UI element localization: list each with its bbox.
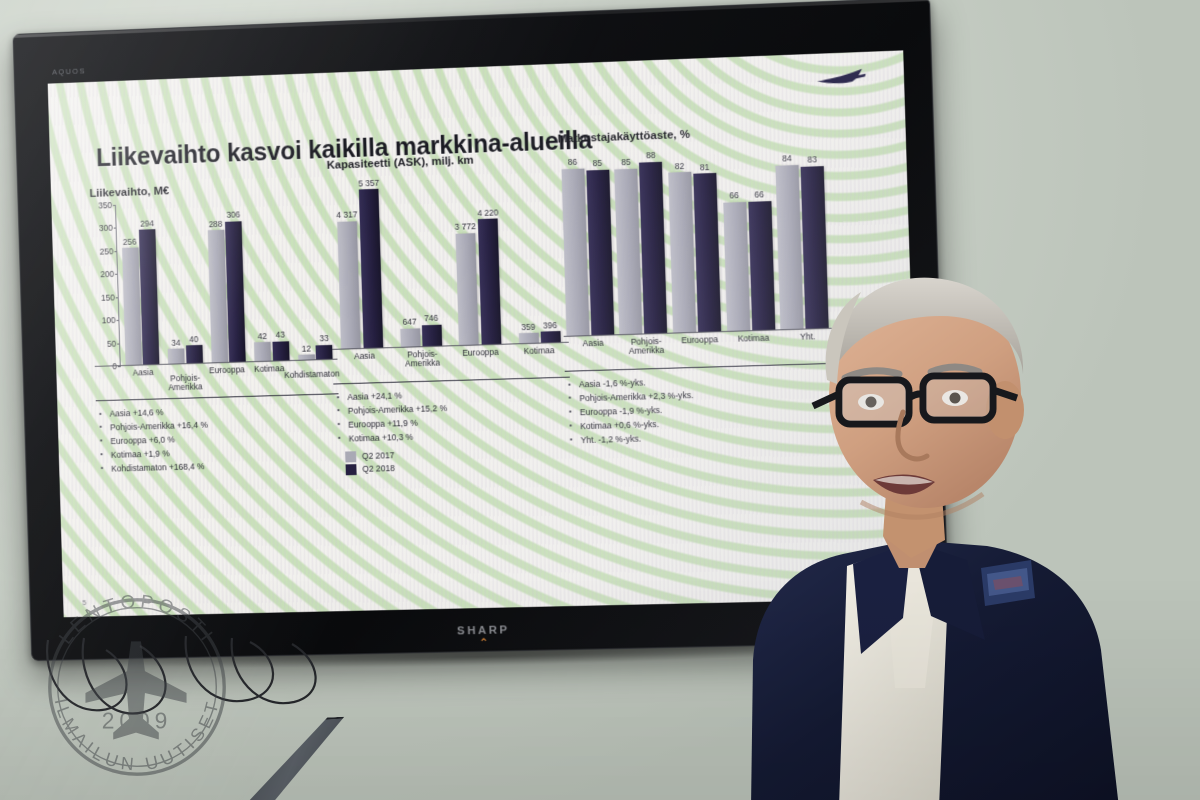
power-led-icon: ⌃ xyxy=(479,637,489,649)
bar-chart-liikevaihto: 050100150200250300350 256294344028830642… xyxy=(90,197,338,392)
bar-value-label: 647 xyxy=(402,317,416,327)
bar-value-label: 85 xyxy=(593,158,603,168)
bar xyxy=(561,168,589,337)
bar-group: 1233 xyxy=(293,198,333,361)
bar-value-label: 86 xyxy=(568,157,578,167)
x-axis-label: Kotimaa xyxy=(254,364,285,374)
aquos-brand-label: AQUOS xyxy=(52,66,86,76)
bar-column: 306 xyxy=(225,201,246,363)
bar-group: 288306 xyxy=(207,201,246,364)
bar-column: 82 xyxy=(667,147,696,334)
x-axis-label: Eurooppa xyxy=(462,348,499,358)
x-axis-label: Aasia xyxy=(354,352,375,361)
panel-kapasiteetti: Kapasiteetti (ASK), milj. km 4 3175 3576… xyxy=(327,151,573,477)
bar-column: 4 220 xyxy=(476,172,502,346)
bar-value-label: 66 xyxy=(754,190,764,200)
bar-column: 85 xyxy=(586,150,615,336)
bar xyxy=(254,342,271,362)
x-axis-label: Kotimaa xyxy=(524,346,555,356)
x-axis-label: Aasia xyxy=(133,368,154,377)
y-tick-label: 100 xyxy=(102,315,116,325)
bar xyxy=(225,221,246,363)
chart-legend: Q2 2017Q2 2018 xyxy=(335,445,572,475)
y-tick-label: 250 xyxy=(100,246,114,256)
bar-group: 4 3175 357 xyxy=(335,176,384,350)
bar-value-label: 83 xyxy=(807,154,817,164)
bar xyxy=(400,328,420,348)
bar xyxy=(615,168,643,335)
bar-value-label: 4 220 xyxy=(477,207,498,218)
x-axis-label: Aasia xyxy=(582,339,603,349)
x-axis-label: Pohjois-Amerikka xyxy=(628,337,664,356)
bar-value-label: 3 772 xyxy=(455,222,476,233)
bar-column: 85 xyxy=(614,149,643,335)
bar xyxy=(139,229,160,365)
bar-value-label: 288 xyxy=(209,219,223,229)
bar-value-label: 746 xyxy=(424,313,438,323)
bar-value-label: 82 xyxy=(675,161,685,171)
bar xyxy=(122,248,142,366)
bar-value-label: 42 xyxy=(258,331,268,341)
legend-color-swatch xyxy=(345,451,356,462)
bar xyxy=(337,221,360,350)
bar-value-label: 396 xyxy=(543,320,557,330)
bar-column: 43 xyxy=(268,199,289,362)
bar-column: 3 772 xyxy=(453,173,479,347)
bar-group: 3440 xyxy=(163,202,202,365)
bar xyxy=(668,172,696,333)
bar xyxy=(456,233,479,346)
bar-column: 5 357 xyxy=(358,176,384,349)
bar-column: 88 xyxy=(639,148,668,335)
bar-column: 359 xyxy=(514,170,539,344)
bar-value-label: 43 xyxy=(276,330,286,340)
bar xyxy=(186,345,203,364)
bar-value-label: 84 xyxy=(782,153,792,163)
bar-value-label: 4 317 xyxy=(336,209,357,220)
bar-group: 256294 xyxy=(120,204,159,366)
slide-number: 5 xyxy=(82,600,86,607)
panel-divider xyxy=(333,377,570,385)
panel-liikevaihto: Liikevaihto, M€ 050100150200250300350 25… xyxy=(89,180,340,477)
panel-divider xyxy=(96,393,339,401)
bullet-list-kapasiteetti: Aasia +24,1 %Pohjois-Amerikka +15,2 %Eur… xyxy=(334,385,572,447)
cable-bundle xyxy=(36,636,336,746)
bar-value-label: 294 xyxy=(140,218,154,228)
panel-title: Liikevaihto, M€ xyxy=(89,180,332,200)
bar-column: 294 xyxy=(138,204,159,366)
bar-group: 8588 xyxy=(614,148,668,335)
legend-label: Q2 2017 xyxy=(362,450,395,461)
bar-group: 4243 xyxy=(250,199,289,362)
bar-value-label: 85 xyxy=(621,157,631,167)
y-tick-label: 350 xyxy=(98,200,112,210)
bar-value-label: 33 xyxy=(319,333,329,343)
bar xyxy=(272,341,289,361)
bar-column: 40 xyxy=(181,202,202,364)
bar xyxy=(639,162,667,335)
bar-column: 746 xyxy=(417,174,442,347)
x-axis-label: Pohjois-Amerikka xyxy=(168,374,203,393)
bar xyxy=(693,173,721,332)
x-axis-label: Eurooppa xyxy=(681,335,718,345)
x-axis-label: Pohjois-Amerikka xyxy=(405,350,440,369)
bar-group: 647746 xyxy=(395,174,442,348)
bar-value-label: 40 xyxy=(189,334,198,344)
y-tick-label: 150 xyxy=(101,292,115,302)
bar xyxy=(478,219,502,346)
bar-column: 86 xyxy=(561,151,589,337)
plot-area: 4 3175 3576477463 7724 220359396 xyxy=(327,169,569,350)
plot-area: 256294344028830642431233 xyxy=(116,197,338,366)
legend-label: Q2 2018 xyxy=(362,463,395,474)
bar-value-label: 81 xyxy=(700,162,710,172)
bar-value-label: 34 xyxy=(171,337,180,347)
y-tick-label: 50 xyxy=(107,338,116,348)
finnair-logo xyxy=(815,66,870,88)
bar-column: 396 xyxy=(535,170,560,344)
bar xyxy=(207,230,228,364)
bar-group: 3 7724 220 xyxy=(453,172,502,346)
bar xyxy=(359,189,383,349)
bar-group: 8685 xyxy=(561,150,614,337)
y-tick-label: 300 xyxy=(99,223,113,233)
meeting-room-background: AQUOS SHARP ⌃ Liikevaihto kasvoi kaikill… xyxy=(0,0,1200,800)
bar xyxy=(422,324,442,347)
bar-value-label: 5 357 xyxy=(358,178,379,189)
bar-value-label: 88 xyxy=(646,150,656,160)
bar-value-label: 66 xyxy=(729,190,739,200)
bar-group: 359396 xyxy=(514,170,561,345)
bar-group: 8281 xyxy=(667,146,721,334)
presenter-person xyxy=(735,268,1200,800)
bar-value-label: 12 xyxy=(301,343,311,353)
bar xyxy=(586,169,614,336)
x-axis-label: Kohdistamaton xyxy=(284,369,340,379)
bullet-list-liikevaihto: Aasia +14,6 %Pohjois-Amerikka +16,4 %Eur… xyxy=(96,401,341,476)
bar-value-label: 256 xyxy=(123,236,137,246)
x-axis-label: Eurooppa xyxy=(209,365,245,375)
y-tick-label: 200 xyxy=(100,269,114,279)
bar-column: 4 317 xyxy=(335,177,361,350)
bar-column: 647 xyxy=(395,175,420,348)
bar-value-label: 359 xyxy=(521,322,535,332)
bar-chart-kapasiteetti: 4 3175 3576477463 7724 220359396 AasiaPo… xyxy=(327,169,569,375)
bar xyxy=(168,349,185,365)
legend-color-swatch xyxy=(346,464,357,475)
bar-value-label: 306 xyxy=(226,210,240,220)
bar-column: 81 xyxy=(692,146,721,333)
